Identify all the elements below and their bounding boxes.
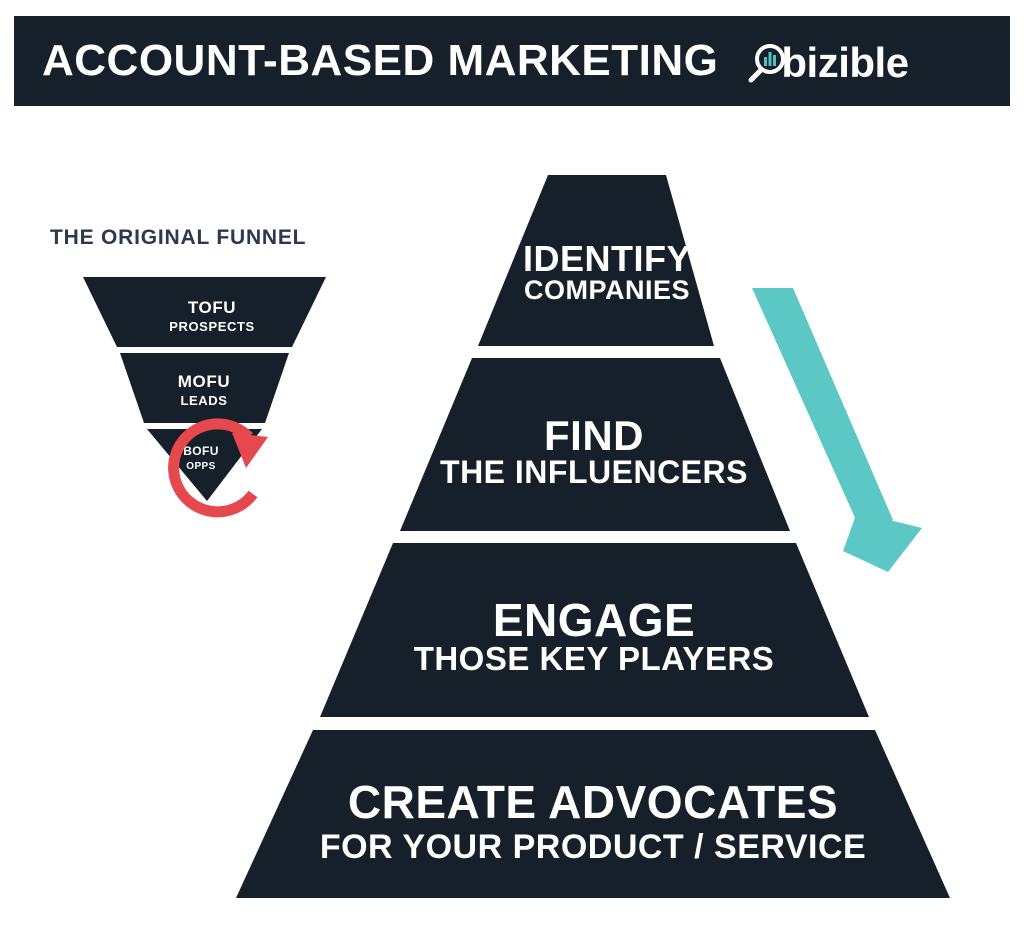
funnel-stage-tofu: TOFU PROSPECTS <box>83 277 326 347</box>
pyramid-tier-title: CREATE ADVOCATES <box>348 776 838 828</box>
down-right-arrow-icon <box>752 288 922 572</box>
pyramid-tier-identify: IDENTIFY COMPANIES <box>478 175 714 346</box>
funnel-stage-label: TOFU <box>188 298 236 317</box>
bizible-logo: bizible <box>744 40 908 86</box>
pyramid-tier-create-advocates: CREATE ADVOCATES FOR YOUR PRODUCT / SERV… <box>236 730 950 898</box>
pyramid-tier-subtitle: COMPANIES <box>524 275 690 305</box>
pyramid-tier-engage: ENGAGE THOSE KEY PLAYERS <box>320 543 869 717</box>
pyramid-tier-subtitle: THOSE KEY PLAYERS <box>414 640 775 677</box>
pyramid-tier-find: FIND THE INFLUENCERS <box>400 358 790 531</box>
funnel-stage-sublabel: OPPS <box>186 461 215 472</box>
funnel-stage-label: MOFU <box>178 372 230 391</box>
magnifier-bar-chart-icon <box>744 40 790 86</box>
funnel-svg: TOFU PROSPECTS MOFU LEADS BOFU OPPS <box>60 265 360 535</box>
pyramid-tier-subtitle: FOR YOUR PRODUCT / SERVICE <box>320 828 866 866</box>
original-funnel-diagram: THE ORIGINAL FUNNEL TOFU PROSPECTS MOFU … <box>0 0 420 560</box>
funnel-stage-sublabel: LEADS <box>180 393 227 408</box>
pyramid-tier-subtitle: THE INFLUENCERS <box>440 454 748 490</box>
pyramid-tier-title: FIND <box>544 412 644 459</box>
pyramid-tier-title: IDENTIFY <box>523 238 691 279</box>
pyramid-tier-title: ENGAGE <box>493 594 695 646</box>
funnel-stage-label: BOFU <box>183 444 219 458</box>
funnel-stage-mofu: MOFU LEADS <box>120 353 289 423</box>
funnel-stage-sublabel: PROSPECTS <box>169 319 255 334</box>
funnel-heading: THE ORIGINAL FUNNEL <box>50 226 306 250</box>
brand-name: bizible <box>781 42 908 84</box>
